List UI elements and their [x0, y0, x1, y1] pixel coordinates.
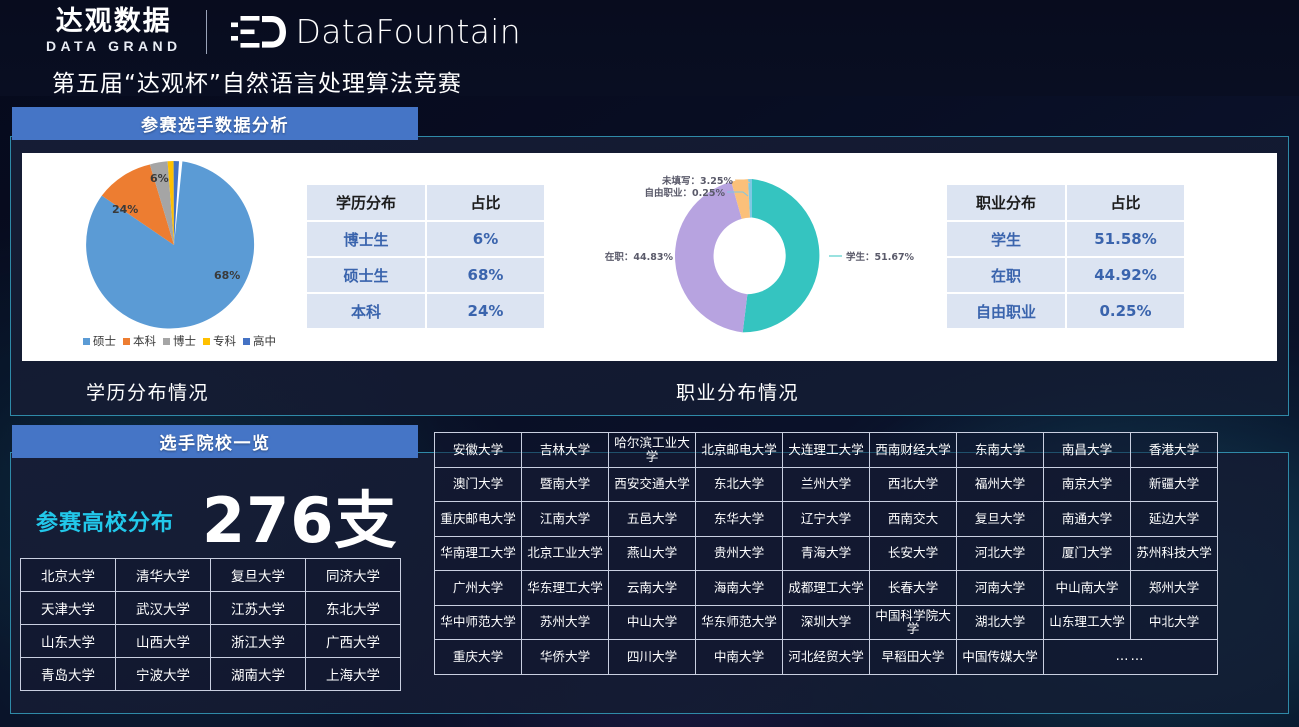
university-cell: 暨南大学: [522, 467, 609, 502]
university-cell: 华南理工大学: [435, 536, 522, 571]
university-cell: 西南交大: [870, 502, 957, 537]
logo-divider: [206, 10, 207, 54]
university-cell: 天津大学: [21, 592, 116, 625]
occupation-distribution-table: 职业分布 占比 学生 51.58% 在职 44.92% 自由职业 0.25%: [947, 185, 1186, 330]
university-cell: 南京大学: [1044, 467, 1131, 502]
occupation-chart-caption: 职业分布情况: [676, 378, 799, 405]
column-header: 职业分布: [947, 185, 1066, 221]
university-cell: 华中师范大学: [435, 605, 522, 640]
legend-swatch-icon: [123, 338, 130, 345]
university-cell: 西安交通大学: [609, 467, 696, 502]
table-row: 天津大学武汉大学江苏大学东北大学: [21, 592, 401, 625]
university-cell: 河北经贸大学: [783, 640, 870, 675]
education-chart-caption: 学历分布情况: [86, 378, 209, 405]
school-count-stat: 参赛高校分布 276支: [22, 478, 422, 548]
university-cell: 大连理工大学: [783, 433, 870, 468]
top-header-bar: 达观数据 DATA GRAND DataFountain 第五届“达观杯”自然语…: [0, 0, 1299, 96]
contestant-data-panel-header: 参赛选手数据分析: [12, 107, 418, 140]
table-cell: 0.25%: [1066, 293, 1185, 329]
university-cell: 青海大学: [783, 536, 870, 571]
legend-label: 硕士: [93, 333, 116, 349]
university-cell: 深圳大学: [783, 605, 870, 640]
table-row: 广州大学华东理工大学云南大学海南大学成都理工大学长春大学河南大学中山南大学郑州大…: [435, 571, 1218, 606]
university-cell: 早稻田大学: [870, 640, 957, 675]
table-row: 硕士生 68%: [307, 257, 545, 293]
table-row: 山东大学山西大学浙江大学广西大学: [21, 625, 401, 658]
featured-universities-table: 北京大学清华大学复旦大学同济大学天津大学武汉大学江苏大学东北大学山东大学山西大学…: [20, 558, 401, 691]
university-cell: 河北大学: [957, 536, 1044, 571]
university-cell: 清华大学: [116, 559, 211, 592]
university-cell: 长安大学: [870, 536, 957, 571]
table-cell: 本科: [307, 293, 426, 329]
datafountain-mark-icon: [231, 14, 287, 50]
university-cell: 广西大学: [306, 625, 401, 658]
table-row: 华南理工大学北京工业大学燕山大学贵州大学青海大学长安大学河北大学厦门大学苏州科技…: [435, 536, 1218, 571]
legend-label: 博士: [173, 333, 196, 349]
university-cell: 中南大学: [696, 640, 783, 675]
university-cell: 中北大学: [1131, 605, 1218, 640]
table-row: 自由职业 0.25%: [947, 293, 1185, 329]
university-cell: 江南大学: [522, 502, 609, 537]
table-row: 本科 24%: [307, 293, 545, 329]
university-cell: 西南财经大学: [870, 433, 957, 468]
education-pie-legend: 硕士 本科 博士 专科 高中: [62, 333, 297, 349]
table-row: 学生 51.58%: [947, 221, 1185, 257]
university-cell: 东北大学: [696, 467, 783, 502]
table-row: 在职 44.92%: [947, 257, 1185, 293]
legend-item: 硕士: [83, 333, 116, 349]
university-cell: 郑州大学: [1131, 571, 1218, 606]
table-row: 青岛大学宁波大学湖南大学上海大学: [21, 658, 401, 691]
university-cell: 吉林大学: [522, 433, 609, 468]
university-cell: 中国传媒大学: [957, 640, 1044, 675]
university-cell: 兰州大学: [783, 467, 870, 502]
university-cell: 长春大学: [870, 571, 957, 606]
university-cell: 广州大学: [435, 571, 522, 606]
legend-swatch-icon: [203, 338, 210, 345]
datagrand-logo-en: DATA GRAND: [46, 37, 182, 55]
logo-group: 达观数据 DATA GRAND DataFountain: [46, 8, 521, 56]
university-cell: 福州大学: [957, 467, 1044, 502]
university-cell: 四川大学: [609, 640, 696, 675]
table-row: 博士生 6%: [307, 221, 545, 257]
legend-item: 专科: [203, 333, 236, 349]
university-cell: 南通大学: [1044, 502, 1131, 537]
university-cell: 江苏大学: [211, 592, 306, 625]
donut-label-student: 学生：51.67%: [846, 251, 915, 263]
donut-label-employed: 在职：44.83%: [605, 251, 674, 263]
university-cell: 燕山大学: [609, 536, 696, 571]
table-header-row: 职业分布 占比: [947, 185, 1185, 221]
svg-text:6%: 6%: [150, 172, 169, 185]
table-row: 华中师范大学苏州大学中山大学华东师范大学深圳大学中国科学院大学湖北大学山东理工大…: [435, 605, 1218, 640]
university-cell: 重庆邮电大学: [435, 502, 522, 537]
svg-text:24%: 24%: [112, 203, 138, 216]
education-pie-chart: 68% 24% 6%: [54, 155, 299, 330]
university-cell: 中山南大学: [1044, 571, 1131, 606]
legend-item: 本科: [123, 333, 156, 349]
table-cell: 24%: [426, 293, 545, 329]
university-cell: 东北大学: [306, 592, 401, 625]
university-cell: 山西大学: [116, 625, 211, 658]
university-cell: 西北大学: [870, 467, 957, 502]
table-cell: 51.58%: [1066, 221, 1185, 257]
svg-text:68%: 68%: [214, 269, 240, 282]
table-header-row: 学历分布 占比: [307, 185, 545, 221]
university-cell: 澳门大学: [435, 467, 522, 502]
donut-label-unfilled: 未填写：3.25%: [661, 175, 733, 187]
university-cell: 中山大学: [609, 605, 696, 640]
university-cell: 新疆大学: [1131, 467, 1218, 502]
table-row: 重庆邮电大学江南大学五邑大学东华大学辽宁大学西南交大复旦大学南通大学延边大学: [435, 502, 1218, 537]
education-distribution-table: 学历分布 占比 博士生 6% 硕士生 68% 本科 24%: [307, 185, 546, 330]
legend-label: 高中: [253, 333, 276, 349]
university-cell: 哈尔滨工业大学: [609, 433, 696, 468]
table-row: 北京大学清华大学复旦大学同济大学: [21, 559, 401, 592]
university-cell: 苏州大学: [522, 605, 609, 640]
datafountain-logo: DataFountain: [231, 12, 521, 51]
university-cell: 苏州科技大学: [1131, 536, 1218, 571]
university-cell: 华东师范大学: [696, 605, 783, 640]
table-cell: 博士生: [307, 221, 426, 257]
legend-swatch-icon: [243, 338, 250, 345]
university-cell: 北京邮电大学: [696, 433, 783, 468]
donut-label-freelance: 自由职业：0.25%: [645, 187, 726, 199]
university-cell: 五邑大学: [609, 502, 696, 537]
university-cell: 青岛大学: [21, 658, 116, 691]
column-header: 占比: [1066, 185, 1185, 221]
university-cell: 南昌大学: [1044, 433, 1131, 468]
university-cell: 安徽大学: [435, 433, 522, 468]
university-cell: 北京工业大学: [522, 536, 609, 571]
legend-label: 专科: [213, 333, 236, 349]
university-cell: 海南大学: [696, 571, 783, 606]
legend-swatch-icon: [163, 338, 170, 345]
university-cell: 湖北大学: [957, 605, 1044, 640]
university-cell: 上海大学: [306, 658, 401, 691]
datafountain-logo-text: DataFountain: [296, 12, 521, 51]
university-cell: 同济大学: [306, 559, 401, 592]
university-cell: 复旦大学: [957, 502, 1044, 537]
table-cell: 68%: [426, 257, 545, 293]
legend-item: 博士: [163, 333, 196, 349]
university-cell: 厦门大学: [1044, 536, 1131, 571]
column-header: 学历分布: [307, 185, 426, 221]
university-cell: 北京大学: [21, 559, 116, 592]
competition-title: 第五届“达观杯”自然语言处理算法竞赛: [52, 64, 462, 98]
all-universities-table: 安徽大学吉林大学哈尔滨工业大学北京邮电大学大连理工大学西南财经大学东南大学南昌大…: [434, 432, 1218, 675]
university-cell: 河南大学: [957, 571, 1044, 606]
university-cell: 东华大学: [696, 502, 783, 537]
table-row: 澳门大学暨南大学西安交通大学东北大学兰州大学西北大学福州大学南京大学新疆大学: [435, 467, 1218, 502]
university-cell: 山东理工大学: [1044, 605, 1131, 640]
table-row: 重庆大学华侨大学四川大学中南大学河北经贸大学早稻田大学中国传媒大学……: [435, 640, 1218, 675]
table-cell: 自由职业: [947, 293, 1066, 329]
university-cell: 武汉大学: [116, 592, 211, 625]
university-cell: 辽宁大学: [783, 502, 870, 537]
table-cell: 在职: [947, 257, 1066, 293]
university-cell: 浙江大学: [211, 625, 306, 658]
university-cell: 宁波大学: [116, 658, 211, 691]
school-count-value: 276支: [202, 470, 397, 560]
university-cell: 成都理工大学: [783, 571, 870, 606]
university-cell: 山东大学: [21, 625, 116, 658]
column-header: 占比: [426, 185, 545, 221]
university-cell: 香港大学: [1131, 433, 1218, 468]
schools-panel-header: 选手院校一览: [12, 425, 418, 458]
university-cell: 云南大学: [609, 571, 696, 606]
table-row: 安徽大学吉林大学哈尔滨工业大学北京邮电大学大连理工大学西南财经大学东南大学南昌大…: [435, 433, 1218, 468]
table-cell: 6%: [426, 221, 545, 257]
legend-item: 高中: [243, 333, 276, 349]
table-cell: 学生: [947, 221, 1066, 257]
university-cell: 东南大学: [957, 433, 1044, 468]
charts-white-strip: 68% 24% 6% 硕士 本科 博士 专科 高中 学历分布 占比: [22, 153, 1277, 361]
university-cell: ……: [1044, 640, 1218, 675]
occupation-donut-chart: 未填写：3.25% 自由职业：0.25% 在职：44.83% 学生：51.67%: [567, 153, 937, 353]
legend-swatch-icon: [83, 338, 90, 345]
university-cell: 延边大学: [1131, 502, 1218, 537]
legend-label: 本科: [133, 333, 156, 349]
university-cell: 华侨大学: [522, 640, 609, 675]
university-cell: 中国科学院大学: [870, 605, 957, 640]
university-cell: 重庆大学: [435, 640, 522, 675]
university-cell: 湖南大学: [211, 658, 306, 691]
university-cell: 华东理工大学: [522, 571, 609, 606]
university-cell: 贵州大学: [696, 536, 783, 571]
datagrand-logo: 达观数据 DATA GRAND: [46, 8, 182, 56]
datagrand-logo-cn: 达观数据: [56, 8, 172, 36]
university-cell: 复旦大学: [211, 559, 306, 592]
table-cell: 44.92%: [1066, 257, 1185, 293]
table-cell: 硕士生: [307, 257, 426, 293]
school-count-label: 参赛高校分布: [36, 505, 174, 537]
